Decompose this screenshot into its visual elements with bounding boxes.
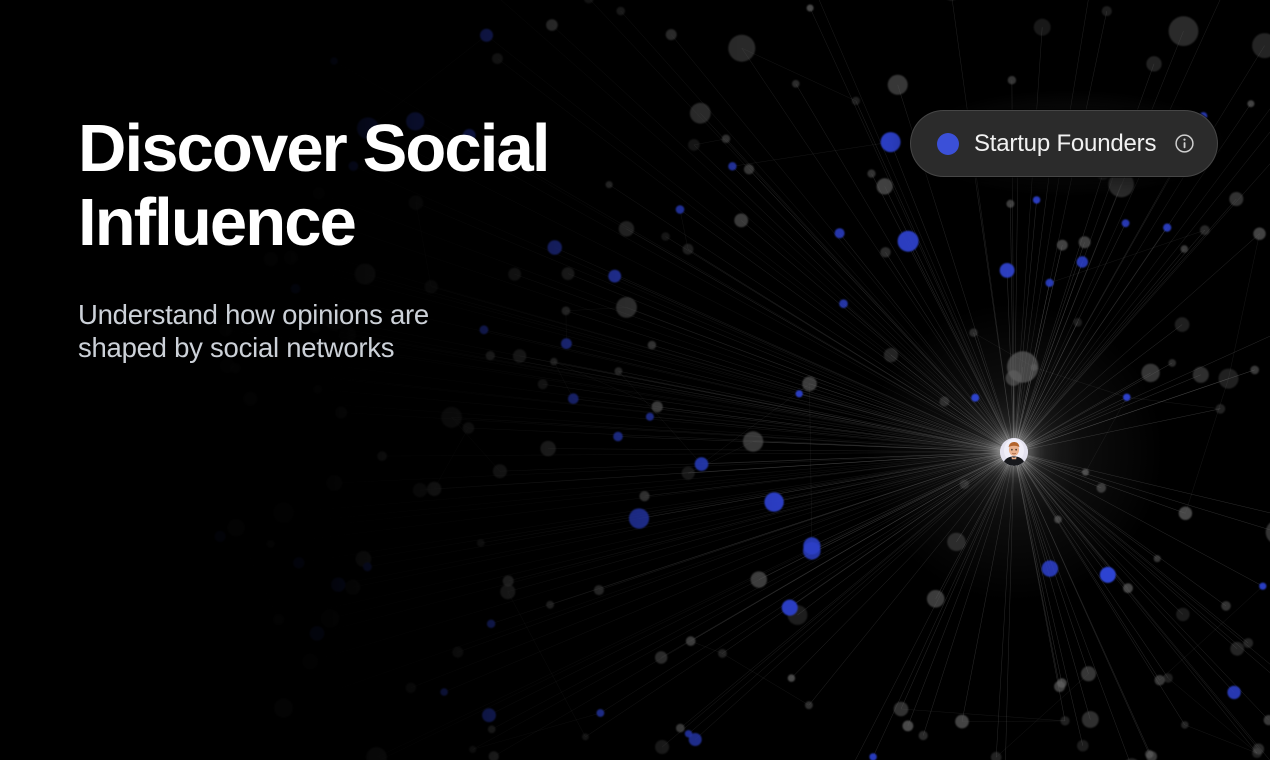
info-circle-icon[interactable] (1174, 133, 1195, 154)
legend-color-dot (937, 133, 959, 155)
hero-section: Discover Social Influence Understand how… (0, 0, 1270, 760)
avatar-face-icon (1000, 438, 1028, 466)
page-title: Discover Social Influence (78, 112, 698, 260)
page-subtitle: Understand how opinions are shaped by so… (78, 260, 698, 364)
legend-label: Startup Founders (974, 130, 1156, 158)
legend-pill-startup-founders[interactable]: Startup Founders (910, 110, 1218, 177)
center-user-avatar[interactable] (1000, 438, 1028, 466)
hero-text-block: Discover Social Influence Understand how… (78, 112, 698, 364)
